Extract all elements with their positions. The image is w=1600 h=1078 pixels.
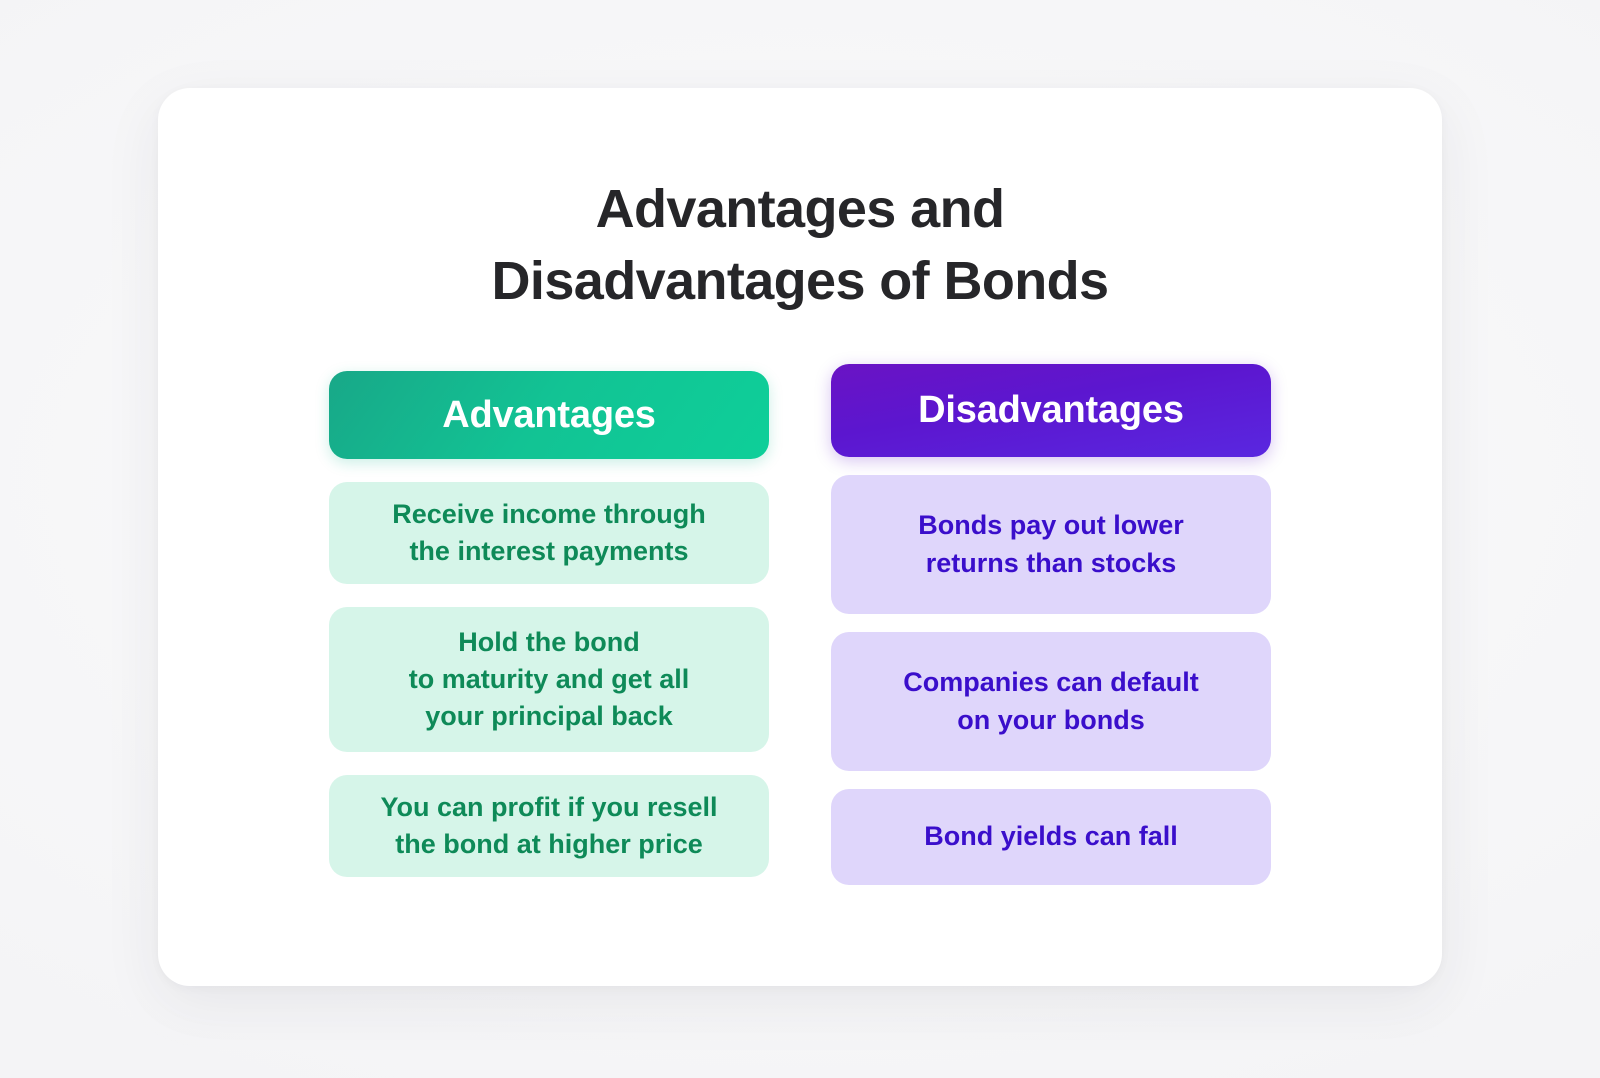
advantage-card-2-line-2: to maturity and get all: [409, 661, 690, 698]
page-title-line-2: Disadvantages of Bonds: [158, 246, 1442, 318]
advantage-card-3: You can profit if you resell the bond at…: [329, 775, 769, 877]
advantage-card-3-line-2: the bond at higher price: [380, 826, 717, 863]
disadvantages-column: Disadvantages Bonds pay out lower return…: [831, 364, 1271, 885]
disadvantages-heading-label: Disadvantages: [918, 389, 1184, 432]
advantage-card-2-line-1: Hold the bond: [409, 624, 690, 661]
disadvantage-card-2-line-1: Companies can default: [903, 664, 1199, 701]
advantage-card-1: Receive income through the interest paym…: [329, 482, 769, 584]
disadvantage-card-2-line-2: on your bonds: [903, 702, 1199, 739]
disadvantages-heading-pill: Disadvantages: [831, 364, 1271, 457]
disadvantage-card-3: Bond yields can fall: [831, 789, 1271, 885]
advantages-heading-label: Advantages: [442, 394, 655, 437]
advantages-heading-pill: Advantages: [329, 371, 769, 459]
advantages-column: Advantages Receive income through the in…: [329, 364, 769, 877]
content-panel: Advantages and Disadvantages of Bonds Ad…: [158, 88, 1442, 986]
advantage-card-2-line-3: your principal back: [409, 698, 690, 735]
advantage-card-2: Hold the bond to maturity and get all yo…: [329, 607, 769, 752]
disadvantage-card-1-line-1: Bonds pay out lower: [918, 507, 1184, 544]
disadvantage-card-1-line-2: returns than stocks: [918, 545, 1184, 582]
advantage-card-1-line-2: the interest payments: [392, 533, 706, 570]
advantage-card-3-line-1: You can profit if you resell: [380, 789, 717, 826]
disadvantage-card-3-line-1: Bond yields can fall: [924, 818, 1178, 855]
disadvantage-card-2: Companies can default on your bonds: [831, 632, 1271, 771]
disadvantage-card-1: Bonds pay out lower returns than stocks: [831, 475, 1271, 614]
page-title-line-1: Advantages and: [158, 174, 1442, 246]
page-title: Advantages and Disadvantages of Bonds: [158, 174, 1442, 318]
advantage-card-1-line-1: Receive income through: [392, 496, 706, 533]
comparison-columns: Advantages Receive income through the in…: [158, 364, 1442, 885]
